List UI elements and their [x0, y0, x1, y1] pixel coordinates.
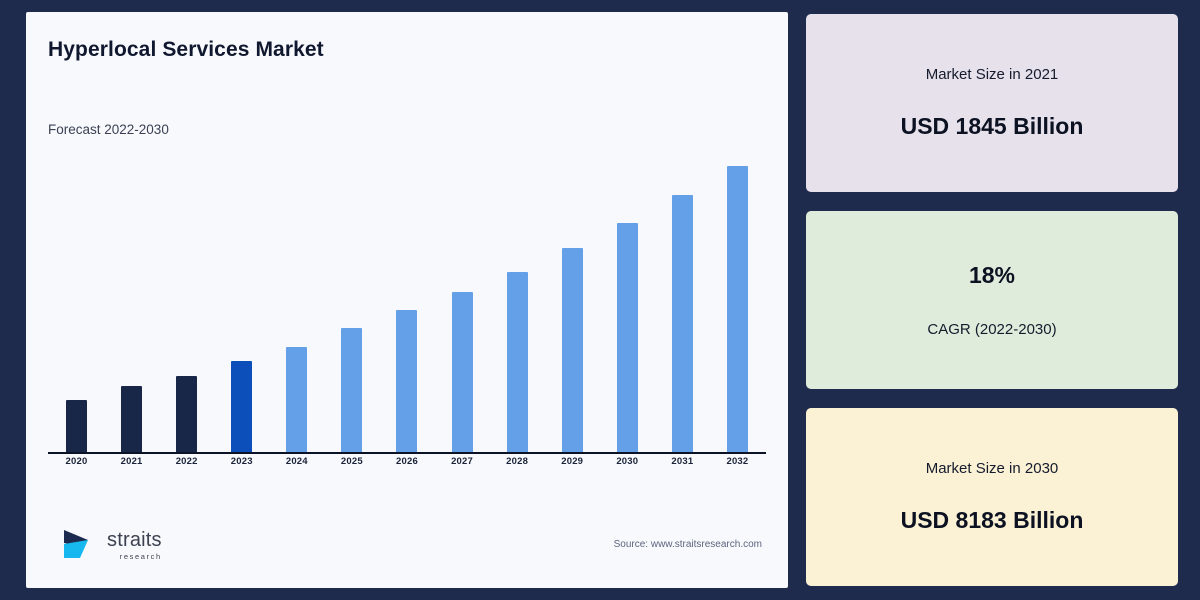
- bar-2020[interactable]: [66, 400, 87, 452]
- logo-wordmark: straits research: [107, 530, 162, 561]
- chart-panel: Hyperlocal Services Market Forecast 2022…: [26, 12, 788, 588]
- bar-slot: [562, 152, 583, 452]
- x-tick-2022: 2022: [162, 456, 211, 467]
- bar-2030[interactable]: [617, 223, 638, 452]
- bar-2027[interactable]: [452, 292, 473, 452]
- source-text: Source: www.straitsresearch.com: [614, 539, 762, 550]
- x-tick-2023: 2023: [217, 456, 266, 467]
- x-tick-2021: 2021: [107, 456, 156, 467]
- x-tick-2025: 2025: [327, 456, 376, 467]
- bar-slot: [341, 152, 362, 452]
- card-value: 18%: [969, 262, 1015, 289]
- card-label: Market Size in 2021: [926, 66, 1059, 83]
- bar-2024[interactable]: [286, 347, 307, 452]
- bar-slot: [176, 152, 197, 452]
- bar-slot: [66, 152, 87, 452]
- x-tick-2026: 2026: [382, 456, 431, 467]
- bar-2031[interactable]: [672, 195, 693, 452]
- stat-card-cagr: 18% CAGR (2022-2030): [806, 211, 1178, 389]
- chart-subtitle: Forecast 2022-2030: [48, 122, 169, 137]
- x-tick-2020: 2020: [52, 456, 101, 467]
- bar-slot: [617, 152, 638, 452]
- x-tick-2027: 2027: [438, 456, 487, 467]
- bar-2023[interactable]: [231, 361, 252, 452]
- bar-2022[interactable]: [176, 376, 197, 452]
- x-axis-line: [48, 452, 766, 454]
- logo-arrow-svg: [62, 528, 98, 562]
- card-value: USD 1845 Billion: [901, 113, 1084, 140]
- logo-name: straits: [107, 530, 162, 550]
- bar-slot: [121, 152, 142, 452]
- bar-slot: [231, 152, 252, 452]
- x-axis-tick-labels: 2020202120222023202420252026202720282029…: [48, 456, 766, 467]
- stat-card-market-size-2021: Market Size in 2021 USD 1845 Billion: [806, 14, 1178, 192]
- card-label: Market Size in 2030: [926, 460, 1059, 477]
- bar-2028[interactable]: [507, 272, 528, 452]
- bar-2025[interactable]: [341, 328, 362, 452]
- straits-research-logo: straits research: [62, 528, 162, 562]
- bar-slot: [452, 152, 473, 452]
- x-tick-2030: 2030: [603, 456, 652, 467]
- bar-slot: [286, 152, 307, 452]
- x-tick-2029: 2029: [548, 456, 597, 467]
- stat-card-market-size-2030: Market Size in 2030 USD 8183 Billion: [806, 408, 1178, 586]
- bar-2032[interactable]: [727, 166, 748, 452]
- x-tick-2024: 2024: [272, 456, 321, 467]
- bar-2029[interactable]: [562, 248, 583, 452]
- x-tick-2032: 2032: [713, 456, 762, 467]
- x-tick-2028: 2028: [493, 456, 542, 467]
- page-title: Hyperlocal Services Market: [48, 38, 324, 62]
- bar-chart-plot: [48, 152, 766, 454]
- bar-slot: [727, 152, 748, 452]
- bar-2021[interactable]: [121, 386, 142, 452]
- bar-slot: [507, 152, 528, 452]
- bar-slot: [672, 152, 693, 452]
- stat-cards: Market Size in 2021 USD 1845 Billion 18%…: [806, 12, 1178, 588]
- infographic-page: Hyperlocal Services Market Forecast 2022…: [0, 0, 1200, 600]
- bar-slot: [396, 152, 417, 452]
- logo-subtitle: research: [120, 553, 162, 561]
- x-tick-2031: 2031: [658, 456, 707, 467]
- card-value: USD 8183 Billion: [901, 507, 1084, 534]
- card-label: CAGR (2022-2030): [927, 321, 1056, 338]
- bar-series: [48, 152, 766, 452]
- logo-arrow-icon: [62, 528, 98, 562]
- bar-2026[interactable]: [396, 310, 417, 452]
